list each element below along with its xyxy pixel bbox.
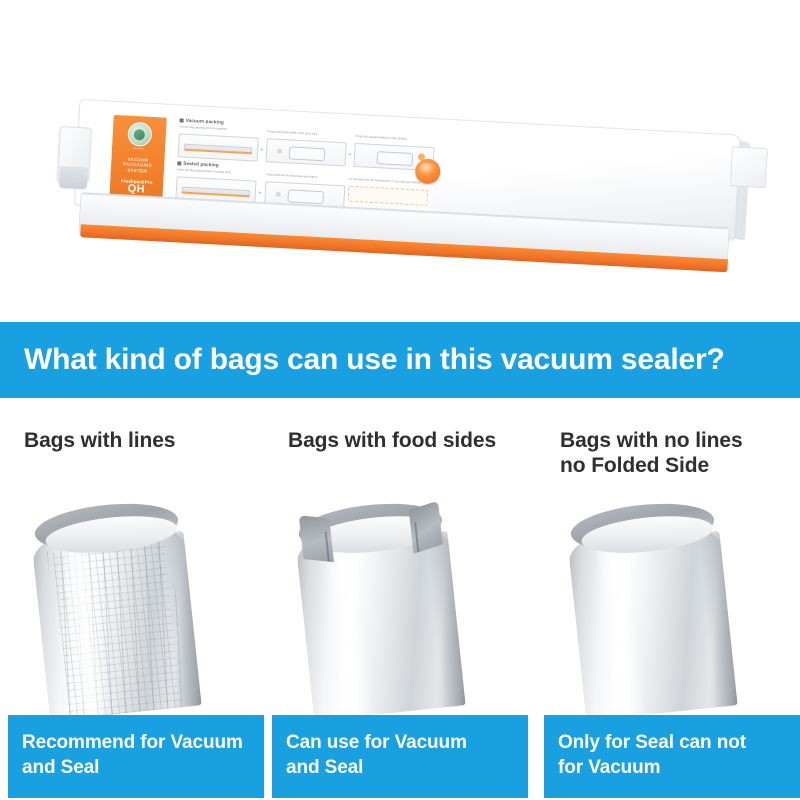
badge-system-text: VACUUM PACKAGING SYSTEM — [123, 156, 153, 174]
warning-dashed-box — [347, 185, 428, 205]
caption-text: Can use for Vacuum and Seal — [286, 730, 516, 780]
diagram-press-dot — [275, 191, 280, 196]
bag-illustration-stage — [544, 490, 800, 715]
device-right-latch-tab[interactable] — [730, 146, 768, 188]
comparison-column-bags-with-food-sides: Bags with food sides Can use for Vacuum … — [272, 398, 528, 800]
bag-illustration-stage — [8, 490, 264, 715]
caption-text: Only for Seal can not for Vacuum — [558, 730, 788, 780]
diagram-press-dot — [277, 148, 282, 153]
bag-comparison-section: Bags with lines Recommend for Vacuum and… — [0, 398, 800, 800]
bag-gusseted-folded-side — [292, 491, 466, 715]
diagram-lid-outline — [289, 146, 326, 161]
vacuum-power-button[interactable] — [415, 158, 441, 184]
arrow-right-icon: ▸ — [259, 189, 262, 195]
instruction-row-2-title: Sealed packing — [183, 161, 219, 168]
diagram-lid-outline — [377, 151, 414, 166]
product-photo-stage: VACUUM VACUUM PACKAGING SYSTEM Freshpack… — [0, 0, 800, 322]
instruction-step-diagram — [178, 133, 259, 161]
caption-box-seal-only: Only for Seal can not for Vacuum — [544, 715, 800, 798]
diagram-lid-outline — [287, 189, 324, 204]
bag-illustration-stage — [272, 490, 528, 715]
badge-emblem-caption: VACUUM — [133, 147, 144, 150]
comparison-column-bags-with-no-lines: Bags with no lines no Folded Side Only f… — [544, 398, 800, 800]
headline-banner: What kind of bags can use in this vacuum… — [0, 322, 800, 398]
bag-embossed-textured — [28, 491, 202, 715]
instruction-row-1-title: Vacuum packing — [186, 118, 225, 125]
arrow-right-icon: ▸ — [261, 146, 264, 152]
bag-plain-smooth — [564, 491, 738, 715]
caption-text: Recommend for Vacuum and Seal — [22, 730, 252, 780]
brand-badge: VACUUM VACUUM PACKAGING SYSTEM Freshpack… — [109, 115, 167, 204]
instruction-step: Put the bag opening into the machine — [178, 125, 259, 161]
bullet-square-icon — [180, 118, 184, 122]
instruction-step: Press down both sides of the lid to lock — [266, 130, 347, 166]
comparison-column-bags-with-lines: Bags with lines Recommend for Vacuum and… — [8, 398, 264, 800]
bullet-square-icon — [177, 161, 181, 165]
vacuum-sealer-device: VACUUM VACUUM PACKAGING SYSTEM Freshpack… — [53, 92, 751, 294]
caption-box-recommend: Recommend for Vacuum and Seal — [8, 715, 264, 798]
instruction-step-diagram — [266, 138, 347, 166]
instruction-warning-box: Do not seal near the heating wire or you… — [347, 177, 428, 205]
emblem-inner-dot — [134, 128, 146, 140]
device-left-clasp-shadow — [59, 166, 88, 189]
quality-emblem-icon — [127, 122, 152, 147]
column-heading: Bags with lines — [8, 398, 264, 453]
caption-box-can-use: Can use for Vacuum and Seal — [272, 715, 528, 798]
column-heading: Bags with no lines no Folded Side — [544, 398, 800, 478]
headline-title: What kind of bags can use in this vacuum… — [0, 343, 725, 377]
arrow-right-icon: ▸ — [349, 151, 352, 157]
column-heading: Bags with food sides — [272, 398, 528, 453]
